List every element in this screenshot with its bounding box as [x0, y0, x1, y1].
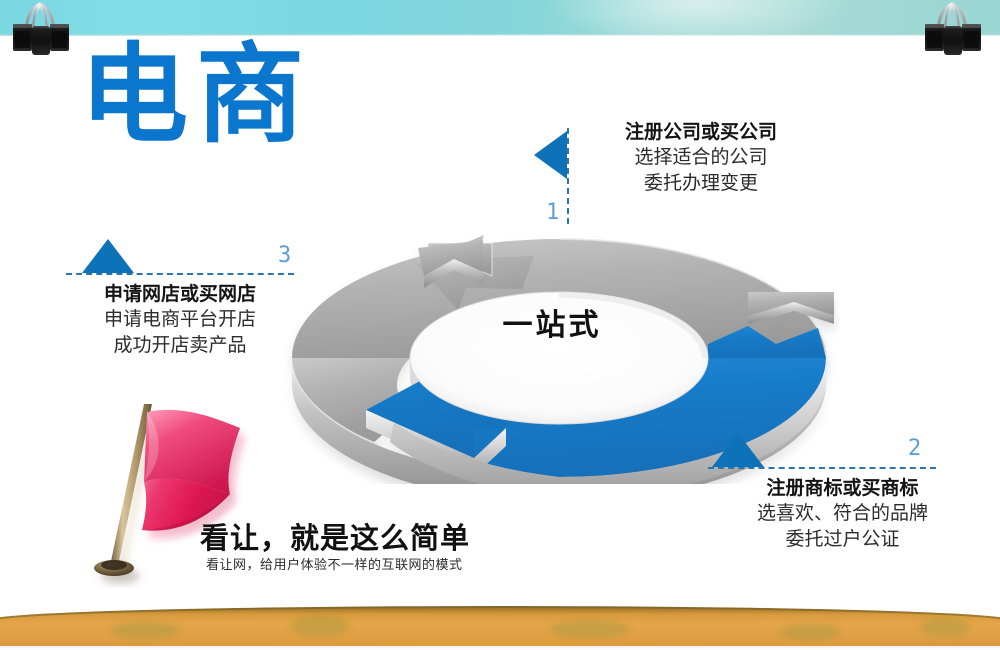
step-1-line-1: 选择适合的公司 — [586, 145, 816, 170]
bottom-strip-edge — [0, 646, 1000, 650]
left-triangle-icon — [534, 131, 567, 179]
up-triangle-icon — [82, 239, 134, 273]
step-2-title: 注册商标或买商标 — [730, 476, 955, 501]
step-2-number: 2 — [908, 436, 921, 461]
step-3-line-2: 成功开店卖产品 — [52, 333, 308, 358]
top-banner — [0, 0, 1000, 35]
step-3-text-block: 申请网店或买网店 申请电商平台开店 成功开店卖产品 — [52, 282, 308, 358]
step-1-title: 注册公司或买公司 — [586, 120, 816, 145]
page-title: 电商 — [80, 42, 312, 150]
step-1-text-block: 注册公司或买公司 选择适合的公司 委托办理变更 — [586, 120, 816, 196]
step-1-number: 1 — [546, 200, 559, 225]
step-1-dashed-connector — [567, 128, 569, 224]
bottom-strip — [0, 606, 1000, 650]
subtagline: 看让网，给用户体验不一样的互联网的模式 — [206, 554, 463, 573]
binder-clip-left — [10, 0, 72, 56]
binder-clip-right — [922, 0, 984, 56]
step-2-text-block: 注册商标或买商标 选喜欢、符合的品牌 委托过户公证 — [730, 476, 955, 552]
tagline: 看让，就是这么简单 — [200, 515, 470, 557]
step-2-dashed-connector — [708, 467, 936, 469]
step-2-line-2: 委托过户公证 — [730, 527, 955, 552]
cycle-center-label: 一站式 — [271, 300, 833, 344]
step-2-line-1: 选喜欢、符合的品牌 — [730, 501, 955, 526]
step-3-number: 3 — [278, 243, 291, 268]
up-triangle-icon — [712, 433, 764, 467]
step-1-line-2: 委托办理变更 — [586, 171, 816, 196]
infographic-canvas: 电商 — [0, 0, 1000, 650]
step-3-title: 申请网店或买网店 — [52, 282, 308, 307]
step-3-line-1: 申请电商平台开店 — [52, 307, 308, 332]
step-3-dashed-connector — [66, 273, 294, 275]
